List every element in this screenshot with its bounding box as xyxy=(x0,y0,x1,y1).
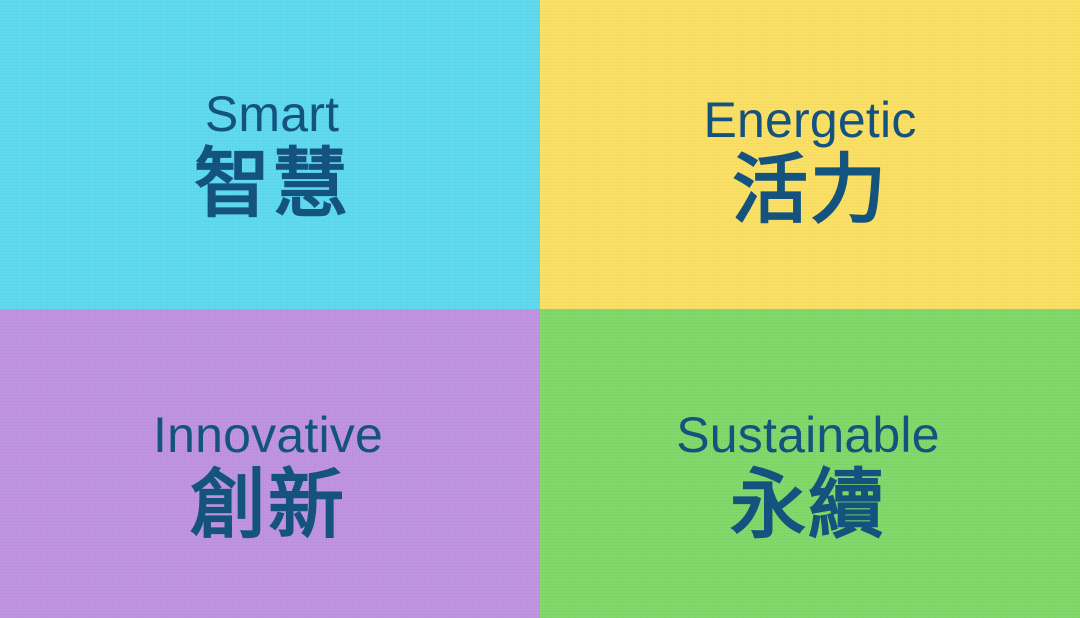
quadrant-smart: Smart 智慧 xyxy=(0,0,540,309)
quadrant-sustainable: Sustainable 永續 xyxy=(540,309,1080,618)
quadrant-innovative-label-zh: 創新 xyxy=(190,465,346,546)
quadrant-energetic-label-en: Energetic xyxy=(703,94,916,146)
quadrant-smart-label-en: Smart xyxy=(205,88,339,140)
quadrant-innovative: Innovative 創新 xyxy=(0,309,540,618)
brand-values-poster: Smart 智慧 Energetic 活力 Innovative 創新 Sust… xyxy=(0,0,1080,618)
quadrant-innovative-label-en: Innovative xyxy=(153,409,383,461)
quadrant-sustainable-content: Sustainable 永續 xyxy=(676,409,940,546)
quadrant-sustainable-label-en: Sustainable xyxy=(676,409,940,461)
quadrant-sustainable-label-zh: 永續 xyxy=(730,465,886,546)
quadrant-energetic-label-zh: 活力 xyxy=(732,150,888,231)
quadrant-innovative-content: Innovative 創新 xyxy=(153,409,383,546)
quadrant-smart-content: Smart 智慧 xyxy=(194,88,350,225)
quadrant-grid: Smart 智慧 Energetic 活力 Innovative 創新 Sust… xyxy=(0,0,1080,618)
quadrant-smart-label-zh: 智慧 xyxy=(194,144,350,225)
quadrant-energetic-content: Energetic 活力 xyxy=(703,94,916,231)
quadrant-energetic: Energetic 活力 xyxy=(540,0,1080,309)
